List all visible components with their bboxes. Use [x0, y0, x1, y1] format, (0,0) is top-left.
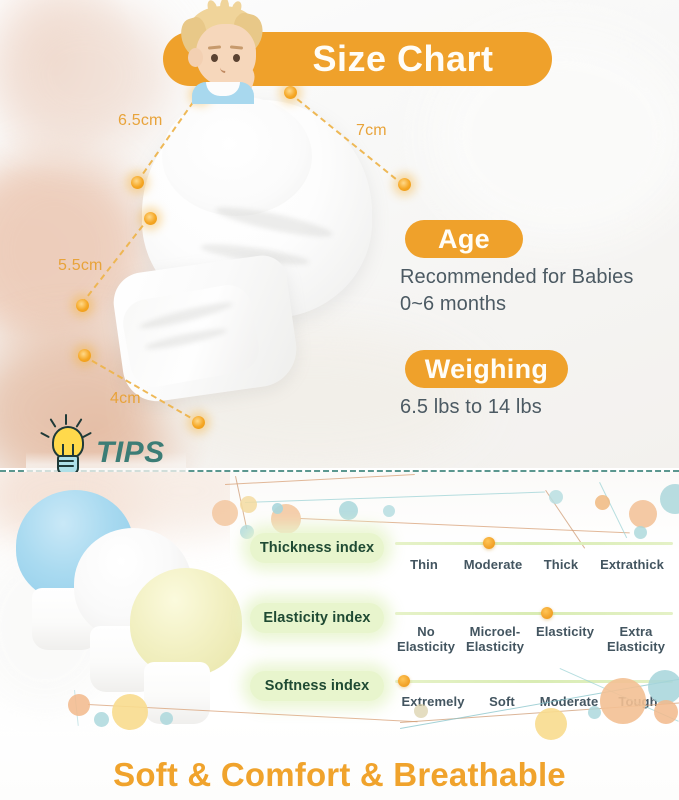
weighing-value: 6.5 lbs to 14 lbs: [400, 394, 542, 421]
elasticity-option-elasticity[interactable]: Elasticity: [531, 624, 599, 654]
decor-line: [245, 492, 545, 503]
thickness-option-thick[interactable]: Thick: [531, 557, 591, 572]
thickness-index-label: Thickness index: [250, 533, 384, 563]
decor-dot: [588, 706, 601, 719]
opt-line-1: Microel-: [459, 624, 531, 639]
mitten-product-photo: [96, 96, 396, 426]
decor-dot: [160, 712, 173, 725]
weighing-pill-label: Weighing: [405, 350, 568, 388]
decor-dot: [660, 484, 679, 514]
measure-dot: [144, 212, 157, 225]
mitten-yellow: [130, 568, 260, 748]
decor-line: [599, 482, 627, 538]
decor-dot: [240, 496, 257, 513]
mitten-yellow-cuff: [144, 662, 210, 724]
decor-dot: [634, 526, 647, 539]
opt-line-2: Elasticity: [599, 639, 673, 654]
elasticity-option-no-elasticity[interactable]: No Elasticity: [393, 624, 459, 654]
thickness-track[interactable]: [395, 542, 673, 545]
decor-dot: [535, 708, 567, 740]
decor-dot: [595, 495, 610, 510]
size-chart-infographic: 6.5cm 7cm 5.5cm 4cm Size Chart: [0, 0, 679, 800]
softness-index-label: Softness index: [250, 671, 384, 701]
opt-line-2: Elasticity: [459, 639, 531, 654]
thickness-option-extrathick[interactable]: Extrathick: [591, 557, 673, 572]
opt-line-1: No: [393, 624, 459, 639]
measure-label-7cm: 7cm: [356, 122, 387, 140]
baby-ear: [188, 48, 203, 67]
lightbulb-icon: [44, 418, 88, 474]
elasticity-track[interactable]: [395, 612, 673, 615]
tips-label: TIPS: [96, 436, 165, 470]
decor-dot: [654, 700, 678, 724]
elasticity-knob[interactable]: [541, 607, 553, 619]
bulb-base-line: [58, 460, 74, 462]
elasticity-option-microel-elasticity[interactable]: Microel- Elasticity: [459, 624, 531, 654]
bulb-ray: [65, 414, 67, 425]
thickness-option-moderate[interactable]: Moderate: [455, 557, 531, 572]
measure-label-6-5cm: 6.5cm: [118, 112, 163, 130]
age-value-line-1: Recommended for Babies: [400, 264, 633, 291]
decor-dot: [94, 712, 109, 727]
baby-eye: [233, 54, 240, 62]
decor-dot: [600, 678, 646, 724]
measure-dot: [192, 416, 205, 429]
decor-dot: [648, 670, 679, 704]
opt-line-1: Extra: [599, 624, 673, 639]
softness-option-extremely[interactable]: Extremely: [393, 694, 473, 709]
age-pill-label: Age: [405, 220, 523, 258]
bulb-ray: [50, 418, 57, 428]
baby-hair-tuft: [220, 0, 230, 16]
decor-line: [300, 518, 630, 533]
decor-dot: [212, 500, 238, 526]
decor-dot: [383, 505, 395, 517]
decor-dot: [549, 490, 563, 504]
decor-dot: [240, 525, 254, 539]
baby-illustration: [172, 4, 278, 98]
decor-dot: [414, 704, 428, 718]
baby-eye: [211, 54, 218, 62]
softness-knob[interactable]: [398, 675, 410, 687]
thickness-scale: Thin Moderate Thick Extrathick: [393, 557, 673, 572]
measure-label-4cm: 4cm: [110, 390, 141, 408]
decor-dot: [112, 694, 148, 730]
elasticity-option-extra-elasticity[interactable]: Extra Elasticity: [599, 624, 673, 654]
measure-dot: [284, 86, 297, 99]
measure-dot: [398, 178, 411, 191]
thickness-option-thin[interactable]: Thin: [393, 557, 455, 572]
top-photo-section: 6.5cm 7cm 5.5cm 4cm Size Chart: [0, 0, 679, 468]
thickness-knob[interactable]: [483, 537, 495, 549]
measure-dot: [76, 299, 89, 312]
opt-line-2: Elasticity: [393, 639, 459, 654]
mitten-yellow-body: [130, 568, 242, 676]
measure-dot: [131, 176, 144, 189]
page-title: Size Chart: [263, 33, 543, 85]
bulb-base-line: [58, 465, 74, 467]
decor-dot: [68, 694, 90, 716]
age-value-line-2: 0~6 months: [400, 291, 506, 318]
decor-dot: [339, 501, 358, 520]
elasticity-scale: No Elasticity Microel- Elasticity Elasti…: [393, 624, 673, 654]
tagline: Soft & Comfort & Breathable: [0, 756, 679, 794]
measure-dot: [78, 349, 91, 362]
elasticity-index-label: Elasticity index: [250, 603, 384, 633]
decor-line: [225, 474, 415, 485]
decor-dot: [272, 503, 283, 514]
bottom-section: Thickness index Thin Moderate Thick Extr…: [0, 472, 679, 800]
decor-dot: [629, 500, 657, 528]
opt-line-1: Elasticity: [531, 624, 599, 639]
measure-label-5-5cm: 5.5cm: [58, 257, 103, 275]
bulb-ray: [76, 418, 83, 428]
